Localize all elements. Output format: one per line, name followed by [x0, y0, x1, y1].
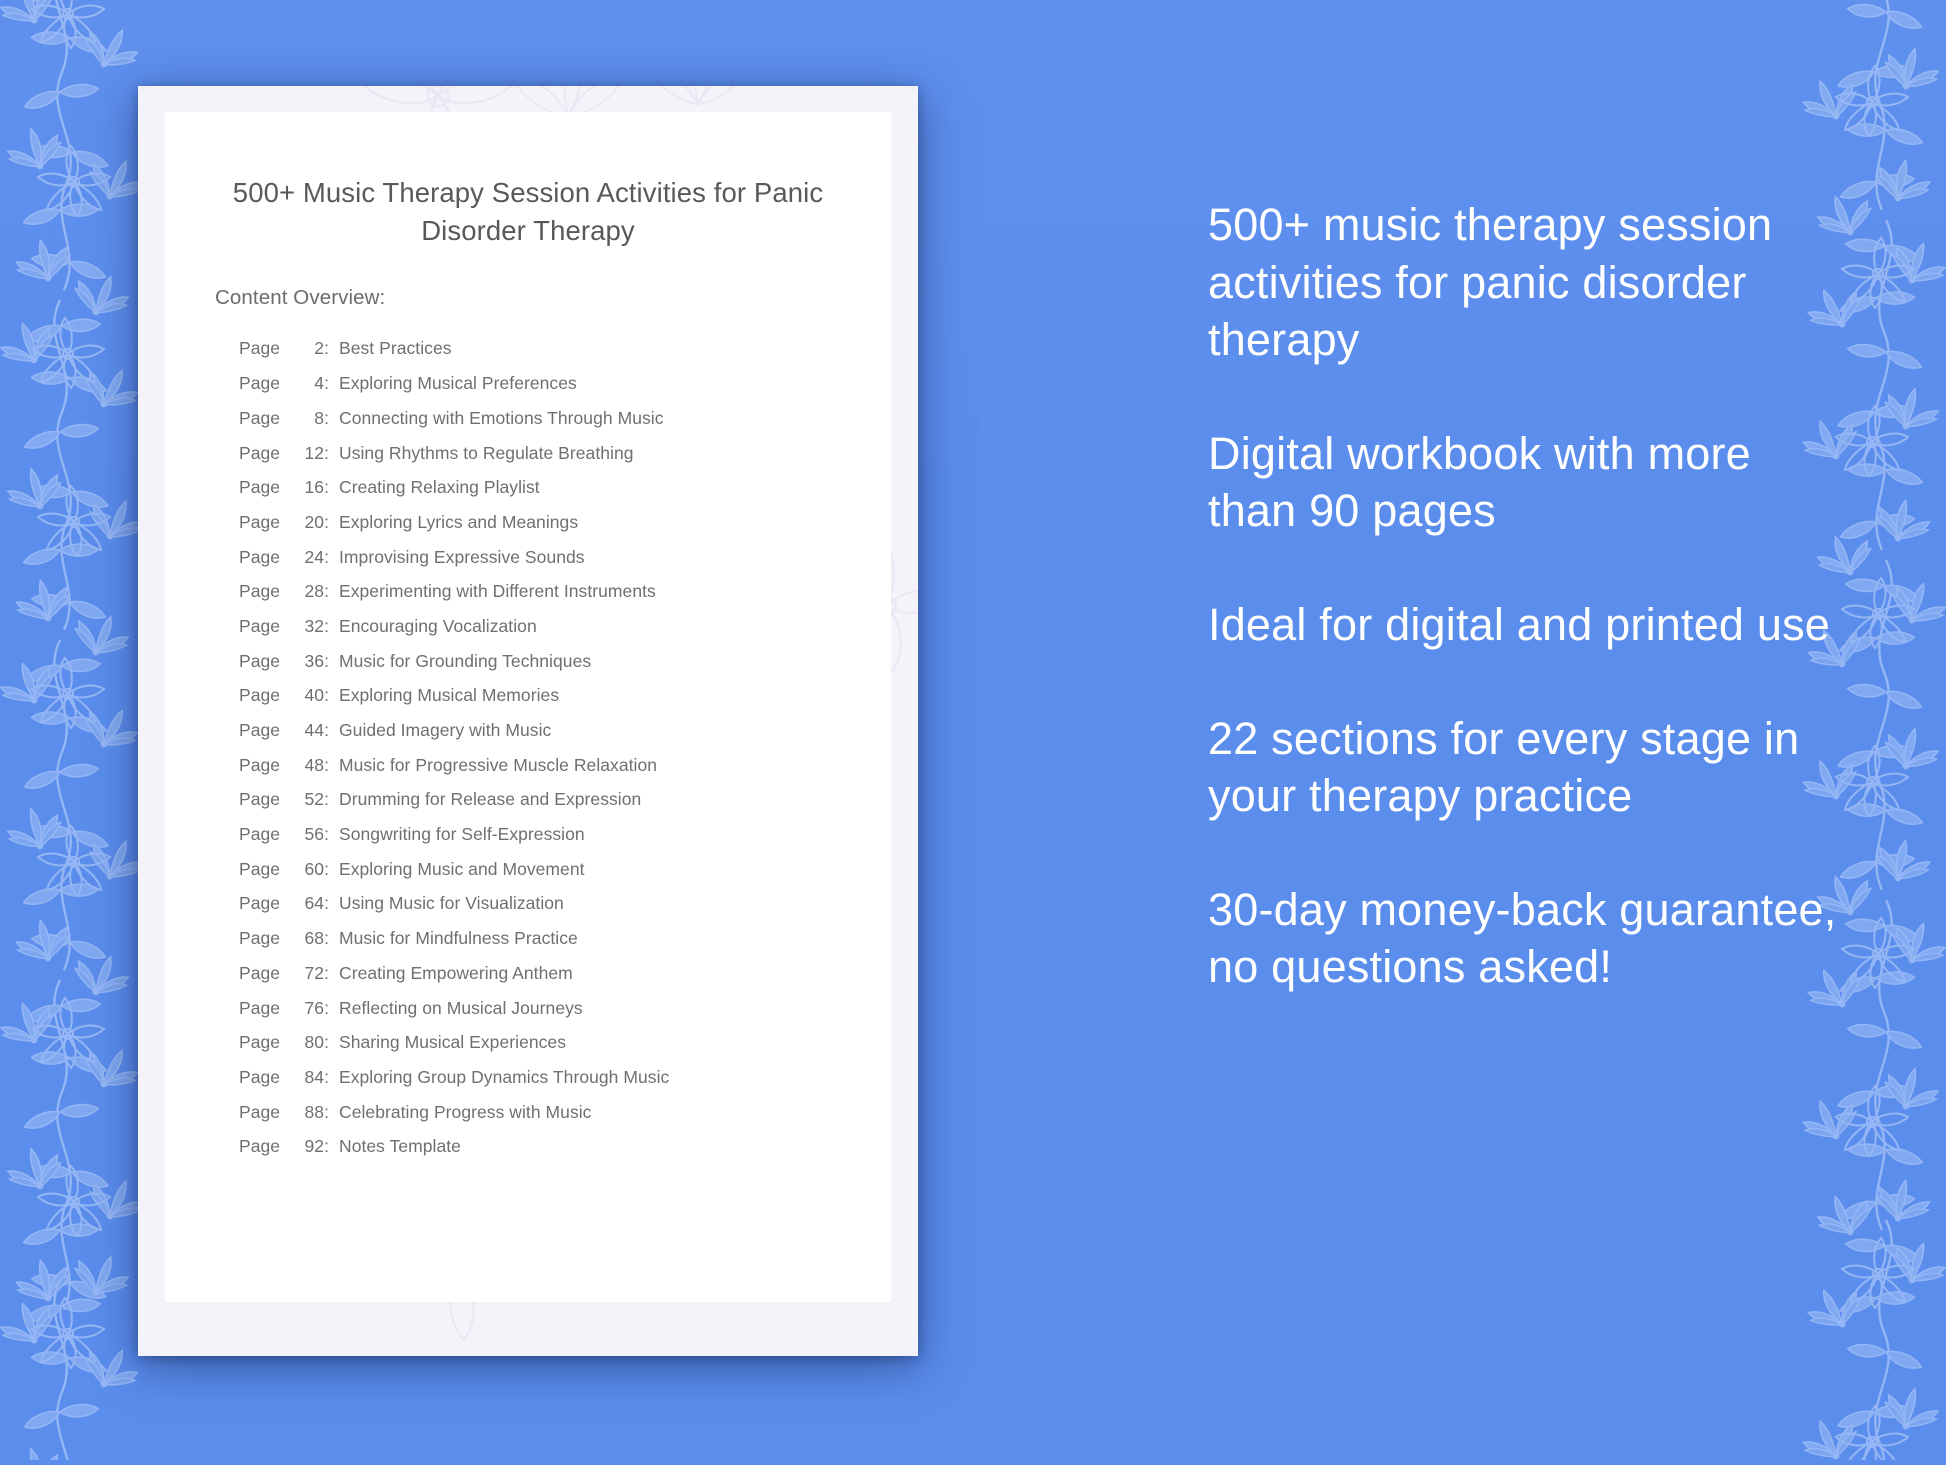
- toc-entry-title: Using Music for Visualization: [339, 895, 564, 913]
- toc-page-prefix: Page: [239, 479, 280, 497]
- toc-colon: :: [324, 1104, 329, 1122]
- toc-page-prefix: Page: [239, 410, 280, 428]
- toc-entry-title: Guided Imagery with Music: [339, 722, 551, 740]
- toc-page-prefix: Page: [239, 618, 280, 636]
- toc-page-prefix: Page: [239, 514, 280, 532]
- toc-entry-title: Connecting with Emotions Through Music: [339, 410, 664, 428]
- promo-feature-text: 30-day money-back guarantee, no question…: [1208, 881, 1848, 996]
- promo-feature-text: Ideal for digital and printed use: [1208, 596, 1848, 654]
- toc-colon: :: [324, 791, 329, 809]
- toc-page-number: 40: [284, 687, 324, 705]
- toc-page-prefix: Page: [239, 826, 280, 844]
- toc-entry: Page32:Encouraging Vocalization: [239, 609, 891, 644]
- toc-colon: :: [324, 1069, 329, 1087]
- toc-page-number: 48: [284, 757, 324, 775]
- toc-page-number: 72: [284, 965, 324, 983]
- toc-entry: Page56:Songwriting for Self-Expression: [239, 818, 891, 853]
- toc-entry: Page16:Creating Relaxing Playlist: [239, 471, 891, 506]
- toc-page-number: 92: [284, 1138, 324, 1156]
- toc-entry: Page84:Exploring Group Dynamics Through …: [239, 1060, 891, 1095]
- toc-entry: Page2:Best Practices: [239, 332, 891, 367]
- toc-colon: :: [324, 895, 329, 913]
- toc-colon: :: [324, 861, 329, 879]
- document-page: 500+ Music Therapy Session Activities fo…: [138, 86, 918, 1356]
- toc-page-prefix: Page: [239, 895, 280, 913]
- toc-page-number: 64: [284, 895, 324, 913]
- toc-entry-title: Music for Grounding Techniques: [339, 653, 591, 671]
- toc-page-number: 4: [284, 375, 324, 393]
- toc-entry-title: Reflecting on Musical Journeys: [339, 1000, 583, 1018]
- toc-colon: :: [324, 1000, 329, 1018]
- toc-entry-title: Using Rhythms to Regulate Breathing: [339, 445, 634, 463]
- toc-entry-title: Drumming for Release and Expression: [339, 791, 641, 809]
- document-sheet: 500+ Music Therapy Session Activities fo…: [165, 112, 891, 1302]
- toc-page-prefix: Page: [239, 1034, 280, 1052]
- toc-page-prefix: Page: [239, 930, 280, 948]
- toc-page-prefix: Page: [239, 1104, 280, 1122]
- toc-entry-title: Exploring Music and Movement: [339, 861, 585, 879]
- toc-page-number: 32: [284, 618, 324, 636]
- toc-colon: :: [324, 1034, 329, 1052]
- toc-colon: :: [324, 549, 329, 567]
- toc-page-prefix: Page: [239, 445, 280, 463]
- toc-page-number: 68: [284, 930, 324, 948]
- toc-page-number: 56: [284, 826, 324, 844]
- toc-entry: Page4:Exploring Musical Preferences: [239, 367, 891, 402]
- toc-entry-title: Improvising Expressive Sounds: [339, 549, 585, 567]
- toc-entry: Page8:Connecting with Emotions Through M…: [239, 401, 891, 436]
- toc-page-prefix: Page: [239, 861, 280, 879]
- toc-entry-title: Exploring Musical Memories: [339, 687, 559, 705]
- toc-page-prefix: Page: [239, 1069, 280, 1087]
- toc-entry-title: Songwriting for Self-Expression: [339, 826, 585, 844]
- toc-entry-title: Music for Mindfulness Practice: [339, 930, 578, 948]
- toc-colon: :: [324, 757, 329, 775]
- toc-colon: :: [324, 410, 329, 428]
- toc-entry: Page92:Notes Template: [239, 1130, 891, 1165]
- toc-colon: :: [324, 583, 329, 601]
- toc-entry: Page64:Using Music for Visualization: [239, 887, 891, 922]
- toc-page-prefix: Page: [239, 757, 280, 775]
- toc-entry: Page60:Exploring Music and Movement: [239, 852, 891, 887]
- toc-page-prefix: Page: [239, 965, 280, 983]
- toc-entry-title: Sharing Musical Experiences: [339, 1034, 566, 1052]
- table-of-contents: Page2:Best PracticesPage4:Exploring Musi…: [165, 310, 891, 1165]
- toc-entry: Page76:Reflecting on Musical Journeys: [239, 991, 891, 1026]
- toc-page-number: 60: [284, 861, 324, 879]
- toc-entry: Page88:Celebrating Progress with Music: [239, 1095, 891, 1130]
- toc-colon: :: [324, 445, 329, 463]
- toc-page-prefix: Page: [239, 1000, 280, 1018]
- toc-entry-title: Experimenting with Different Instruments: [339, 583, 656, 601]
- toc-entry: Page68:Music for Mindfulness Practice: [239, 922, 891, 957]
- toc-entry: Page48:Music for Progressive Muscle Rela…: [239, 748, 891, 783]
- toc-page-number: 52: [284, 791, 324, 809]
- toc-page-number: 24: [284, 549, 324, 567]
- toc-page-prefix: Page: [239, 687, 280, 705]
- toc-page-number: 2: [284, 340, 324, 358]
- toc-page-number: 36: [284, 653, 324, 671]
- toc-page-number: 84: [284, 1069, 324, 1087]
- toc-colon: :: [324, 722, 329, 740]
- toc-colon: :: [324, 375, 329, 393]
- toc-page-prefix: Page: [239, 791, 280, 809]
- toc-entry-title: Creating Empowering Anthem: [339, 965, 573, 983]
- toc-page-number: 76: [284, 1000, 324, 1018]
- promo-feature-text: 500+ music therapy session activities fo…: [1208, 196, 1848, 369]
- toc-page-prefix: Page: [239, 583, 280, 601]
- toc-entry: Page36:Music for Grounding Techniques: [239, 644, 891, 679]
- toc-colon: :: [324, 653, 329, 671]
- toc-page-prefix: Page: [239, 549, 280, 567]
- toc-page-number: 12: [284, 445, 324, 463]
- toc-colon: :: [324, 1138, 329, 1156]
- toc-entry-title: Music for Progressive Muscle Relaxation: [339, 757, 657, 775]
- toc-entry-title: Encouraging Vocalization: [339, 618, 537, 636]
- toc-colon: :: [324, 514, 329, 532]
- toc-page-number: 88: [284, 1104, 324, 1122]
- toc-entry: Page28:Experimenting with Different Inst…: [239, 575, 891, 610]
- toc-entry: Page52:Drumming for Release and Expressi…: [239, 783, 891, 818]
- toc-colon: :: [324, 930, 329, 948]
- toc-entry-title: Best Practices: [339, 340, 452, 358]
- toc-entry: Page44:Guided Imagery with Music: [239, 713, 891, 748]
- toc-page-prefix: Page: [239, 375, 280, 393]
- toc-entry-title: Creating Relaxing Playlist: [339, 479, 540, 497]
- toc-entry: Page12:Using Rhythms to Regulate Breathi…: [239, 436, 891, 471]
- toc-colon: :: [324, 826, 329, 844]
- toc-page-prefix: Page: [239, 1138, 280, 1156]
- toc-page-number: 44: [284, 722, 324, 740]
- toc-page-number: 16: [284, 479, 324, 497]
- content-overview-label: Content Overview:: [165, 250, 891, 310]
- promo-feature-text: Digital workbook with more than 90 pages: [1208, 425, 1848, 540]
- toc-entry-title: Exploring Musical Preferences: [339, 375, 577, 393]
- toc-page-prefix: Page: [239, 653, 280, 671]
- toc-colon: :: [324, 687, 329, 705]
- toc-entry-title: Exploring Group Dynamics Through Music: [339, 1069, 669, 1087]
- toc-entry: Page40:Exploring Musical Memories: [239, 679, 891, 714]
- toc-entry: Page80:Sharing Musical Experiences: [239, 1026, 891, 1061]
- toc-entry-title: Celebrating Progress with Music: [339, 1104, 591, 1122]
- promo-feature-text: 22 sections for every stage in your ther…: [1208, 710, 1848, 825]
- toc-page-number: 8: [284, 410, 324, 428]
- toc-page-number: 80: [284, 1034, 324, 1052]
- promo-text-column: 500+ music therapy session activities fo…: [1208, 196, 1848, 996]
- toc-colon: :: [324, 340, 329, 358]
- toc-entry-title: Exploring Lyrics and Meanings: [339, 514, 578, 532]
- toc-colon: :: [324, 965, 329, 983]
- toc-colon: :: [324, 618, 329, 636]
- document-title: 500+ Music Therapy Session Activities fo…: [165, 112, 891, 250]
- toc-colon: :: [324, 479, 329, 497]
- toc-entry: Page24:Improvising Expressive Sounds: [239, 540, 891, 575]
- toc-entry-title: Notes Template: [339, 1138, 461, 1156]
- toc-page-number: 28: [284, 583, 324, 601]
- toc-page-prefix: Page: [239, 340, 280, 358]
- toc-entry: Page20:Exploring Lyrics and Meanings: [239, 505, 891, 540]
- toc-entry: Page72:Creating Empowering Anthem: [239, 956, 891, 991]
- toc-page-number: 20: [284, 514, 324, 532]
- toc-page-prefix: Page: [239, 722, 280, 740]
